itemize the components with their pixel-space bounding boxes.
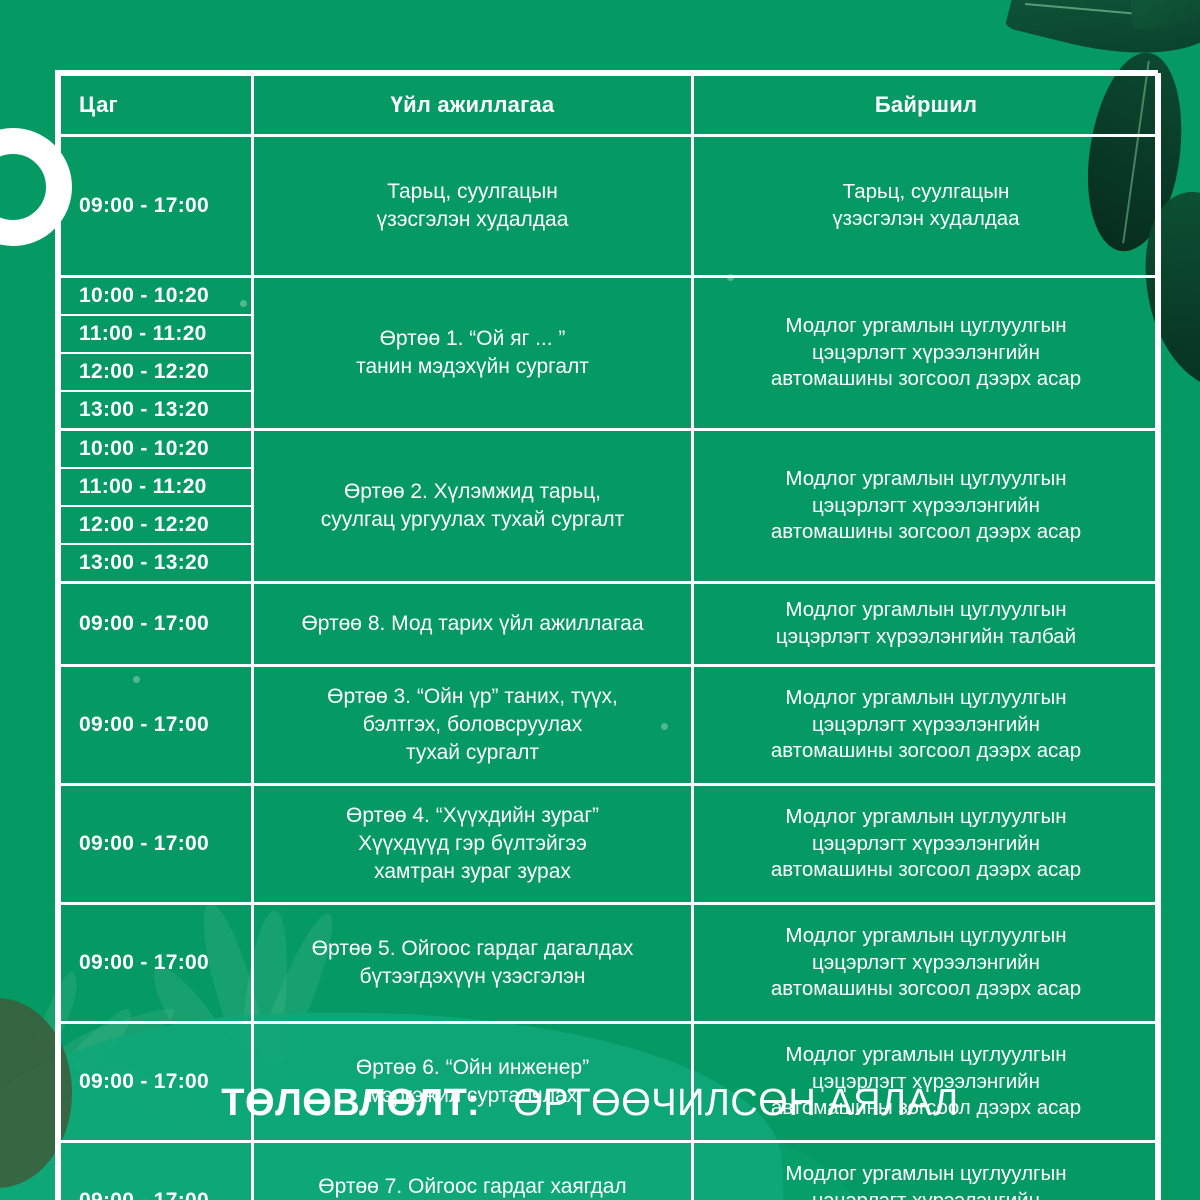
table-body: 09:00 - 17:00Тарьц, суулгацынүзэсгэлэн х… (60, 136, 1160, 1200)
cell-time: 09:00 - 17:00 (60, 904, 253, 1023)
cell-time: 10:00 - 10:2011:00 - 11:2012:00 - 12:201… (60, 277, 253, 430)
table-row: 09:00 - 17:00Өртөө 3. “Ойн үр” таних, тү… (60, 666, 1160, 785)
page-title: ТӨЛӨВЛӨЛТ: ӨРТӨӨЧИЛСӨН АЯЛАЛ (0, 1082, 1200, 1125)
time-slot: 11:00 - 11:20 (61, 316, 251, 354)
page-title-light: ӨРТӨӨЧИЛСӨН АЯЛАЛ (513, 1082, 958, 1124)
cell-activity: Өртөө 4. “Хүүхдийн зураг”Хүүхдүүд гэр бү… (253, 785, 693, 904)
cell-location: Тарьц, суулгацынүзэсгэлэн худалдаа (693, 136, 1160, 277)
table-row: 10:00 - 10:2011:00 - 11:2012:00 - 12:201… (60, 277, 1160, 430)
column-header-time: Цаг (60, 75, 253, 136)
cell-activity: Өртөө 8. Мод тарих үйл ажиллагаа (253, 583, 693, 666)
leaf-icon (1005, 0, 1200, 78)
cell-location: Модлог ургамлын цуглуулгынцэцэрлэгт хүрэ… (693, 1142, 1160, 1200)
table-row: 09:00 - 17:00Өртөө 8. Мод тарих үйл ажил… (60, 583, 1160, 666)
time-slot: 13:00 - 13:20 (61, 392, 251, 428)
cell-time: 09:00 - 17:00 (60, 666, 253, 785)
cell-activity: Өртөө 1. “Ой яг ... ”танин мэдэхүйн сург… (253, 277, 693, 430)
cell-activity: Өртөө 5. Ойгоос гардаг дагалдахбүтээгдэх… (253, 904, 693, 1023)
table-row: 09:00 - 17:00Тарьц, суулгацынүзэсгэлэн х… (60, 136, 1160, 277)
time-slot: 12:00 - 12:20 (61, 507, 251, 545)
cell-location: Модлог ургамлын цуглуулгынцэцэрлэгт хүрэ… (693, 277, 1160, 430)
table-row: 09:00 - 17:00Өртөө 5. Ойгоос гардаг дага… (60, 904, 1160, 1023)
time-slot: 13:00 - 13:20 (61, 545, 251, 581)
table-header: Цаг Үйл ажиллагаа Байршил (60, 75, 1160, 136)
time-slot: 10:00 - 10:20 (61, 278, 251, 316)
cell-activity: Өртөө 7. Ойгоос гардаг хаягдалтүүхий эдэ… (253, 1142, 693, 1200)
column-header-location: Байршил (693, 75, 1160, 136)
schedule-table: Цаг Үйл ажиллагаа Байршил 09:00 - 17:00Т… (58, 73, 1161, 1200)
cell-location: Модлог ургамлын цуглуулгынцэцэрлэгт хүрэ… (693, 430, 1160, 583)
cell-activity: Өртөө 2. Хүлэмжид тарьц,суулгац ургуулах… (253, 430, 693, 583)
table-row: 10:00 - 10:2011:00 - 11:2012:00 - 12:201… (60, 430, 1160, 583)
table-row: 09:00 - 17:00Өртөө 4. “Хүүхдийн зураг”Хү… (60, 785, 1160, 904)
poster-canvas: Цаг Үйл ажиллагаа Байршил 09:00 - 17:00Т… (0, 0, 1200, 1200)
cell-time: 09:00 - 17:00 (60, 1142, 253, 1200)
cell-activity: Өртөө 3. “Ойн үр” таних, түүх,бэлтгэх, б… (253, 666, 693, 785)
column-header-activity: Үйл ажиллагаа (253, 75, 693, 136)
cell-location: Модлог ургамлын цуглуулгынцэцэрлэгт хүрэ… (693, 666, 1160, 785)
cell-location: Модлог ургамлын цуглуулгынцэцэрлэгт хүрэ… (693, 904, 1160, 1023)
time-slot: 12:00 - 12:20 (61, 354, 251, 392)
page-title-strong: ТӨЛӨВЛӨЛТ: (221, 1082, 480, 1124)
leaf-icon (1124, 0, 1200, 31)
table-row: 09:00 - 17:00Өртөө 7. Ойгоос гардаг хаяг… (60, 1142, 1160, 1200)
cell-time: 09:00 - 17:00 (60, 136, 253, 277)
time-slot: 10:00 - 10:20 (61, 431, 251, 469)
schedule-table-container: Цаг Үйл ажиллагаа Байршил 09:00 - 17:00Т… (55, 70, 1158, 1200)
cell-time: 09:00 - 17:00 (60, 785, 253, 904)
cell-activity: Тарьц, суулгацынүзэсгэлэн худалдаа (253, 136, 693, 277)
table-header-row: Цаг Үйл ажиллагаа Байршил (60, 75, 1160, 136)
time-slot: 11:00 - 11:20 (61, 469, 251, 507)
cell-location: Модлог ургамлын цуглуулгынцэцэрлэгт хүрэ… (693, 785, 1160, 904)
cell-location: Модлог ургамлын цуглуулгынцэцэрлэгт хүрэ… (693, 583, 1160, 666)
cell-time: 10:00 - 10:2011:00 - 11:2012:00 - 12:201… (60, 430, 253, 583)
cell-time: 09:00 - 17:00 (60, 583, 253, 666)
